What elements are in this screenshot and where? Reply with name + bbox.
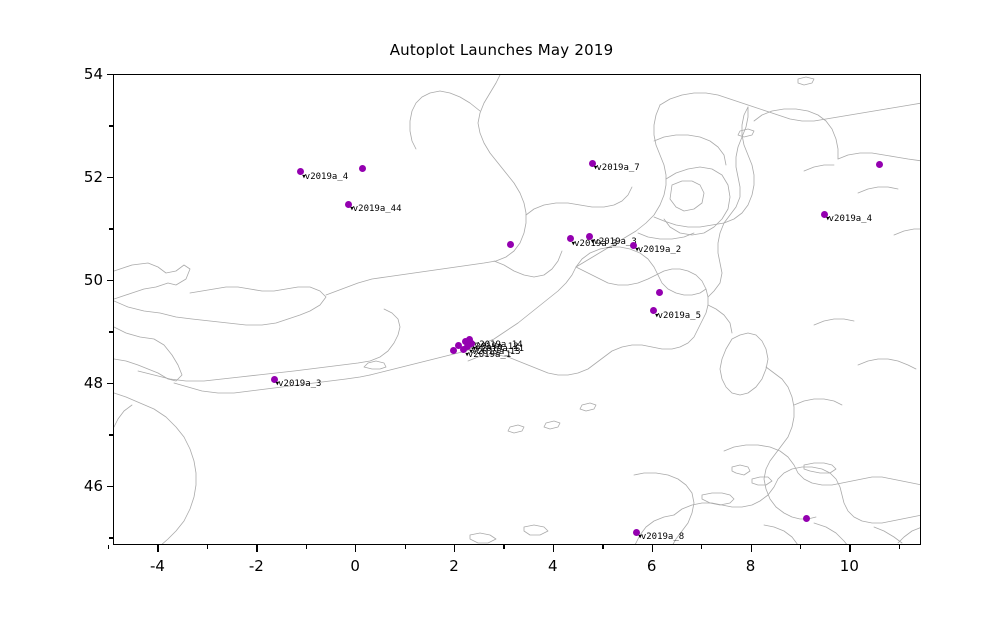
y-major-tick: [107, 177, 114, 178]
x-tick-label: 2: [449, 557, 459, 575]
point-label-caret: ▾: [275, 380, 280, 389]
x-tick-label: 0: [350, 557, 360, 575]
x-tick-label: -2: [249, 557, 264, 575]
x-minor-tick: [207, 545, 208, 549]
point-label: v2019a_2: [638, 246, 681, 255]
x-minor-tick: [899, 545, 900, 549]
y-tick-label: 54: [71, 65, 103, 83]
y-tick-label: 50: [71, 271, 103, 289]
point-label-caret: ▾: [301, 173, 306, 182]
x-minor-tick: [602, 545, 603, 549]
x-major-tick: [751, 545, 752, 552]
x-tick-label: -4: [150, 557, 165, 575]
figure: Autoplot Launches May 2019: [0, 0, 1003, 633]
y-major-tick: [107, 383, 114, 384]
scatter-point: [803, 515, 810, 522]
y-minor-tick: [109, 537, 113, 538]
x-minor-tick: [503, 545, 504, 549]
point-label: v2019a_7: [596, 164, 639, 173]
point-label: v2019a_44: [353, 205, 402, 214]
x-major-tick: [849, 545, 850, 552]
x-minor-tick: [701, 545, 702, 549]
y-major-tick: [107, 280, 114, 281]
point-label: v2019a_4: [829, 215, 872, 224]
y-minor-tick: [109, 125, 113, 126]
point-label-caret: ▾: [634, 246, 639, 255]
scatter-point: [656, 289, 663, 296]
x-tick-label: 10: [840, 557, 859, 575]
plot-area: v2019a_4▾v2019a_44▾v2019a_3▾v2019a_7▾v20…: [113, 74, 921, 545]
x-major-tick: [652, 545, 653, 552]
x-minor-tick: [306, 545, 307, 549]
x-major-tick: [157, 545, 158, 552]
x-tick-label: 4: [548, 557, 558, 575]
x-major-tick: [454, 545, 455, 552]
point-label-caret: ▾: [654, 312, 659, 321]
y-minor-tick: [109, 228, 113, 229]
scatter-points: v2019a_4▾v2019a_44▾v2019a_3▾v2019a_7▾v20…: [114, 75, 921, 545]
point-label: v2019a_8: [641, 533, 684, 542]
x-minor-tick: [405, 545, 406, 549]
x-tick-label: 8: [746, 557, 756, 575]
point-label-caret: ▾: [571, 240, 576, 249]
scatter-point: [876, 161, 883, 168]
point-label-caret: ▾: [593, 164, 598, 173]
scatter-point: [450, 347, 457, 354]
point-label: v2019a_1: [468, 351, 511, 360]
x-major-tick: [256, 545, 257, 552]
point-label-caret: ▾: [349, 205, 354, 214]
y-minor-tick: [109, 434, 113, 435]
point-label: v2019a_5: [658, 312, 701, 321]
point-label: v2019a_4: [305, 173, 348, 182]
chart-title: Autoplot Launches May 2019: [0, 41, 1003, 59]
point-label-caret: ▾: [825, 215, 830, 224]
y-tick-label: 46: [71, 477, 103, 495]
x-minor-tick: [800, 545, 801, 549]
scatter-point: [359, 165, 366, 172]
point-label-caret: ▾: [590, 238, 595, 247]
y-tick-label: 48: [71, 374, 103, 392]
point-label-caret: ▾: [464, 351, 469, 360]
y-tick-label: 52: [71, 168, 103, 186]
x-tick-label: 6: [647, 557, 657, 575]
x-minor-tick: [108, 545, 109, 549]
y-major-tick: [107, 74, 114, 75]
y-major-tick: [107, 486, 114, 487]
y-minor-tick: [109, 331, 113, 332]
scatter-point: [507, 241, 514, 248]
point-label-caret: ▾: [637, 533, 642, 542]
x-major-tick: [553, 545, 554, 552]
x-major-tick: [355, 545, 356, 552]
point-label: v2019a_3: [278, 380, 321, 389]
